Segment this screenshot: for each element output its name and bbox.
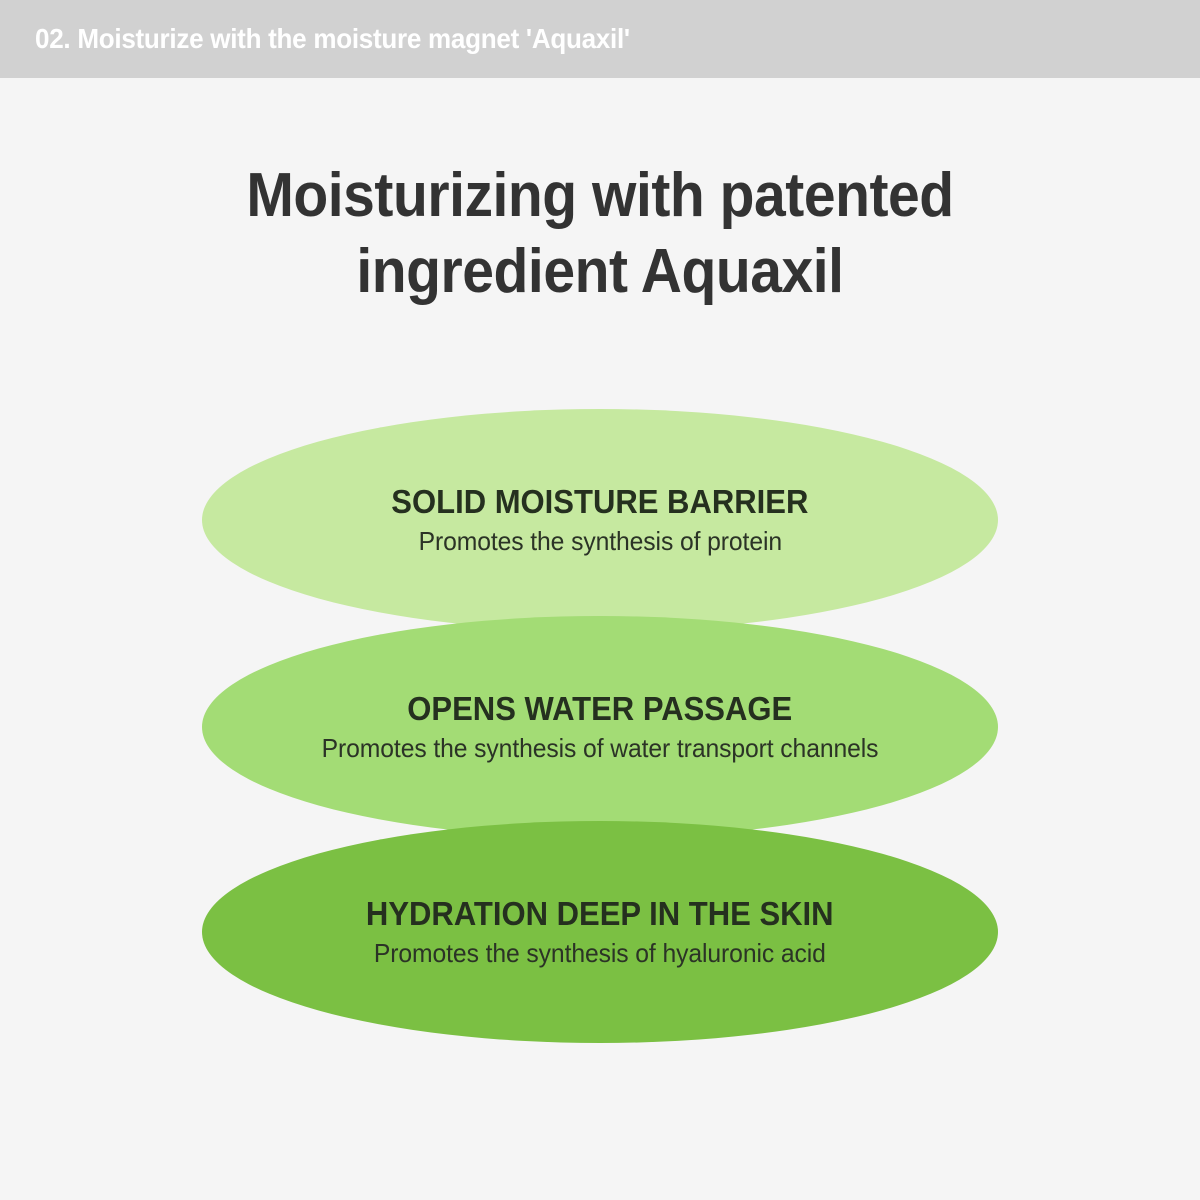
benefit-heading: HYDRATION DEEP IN THE SKIN (366, 894, 834, 934)
benefit-heading: SOLID MOISTURE BARRIER (391, 482, 808, 522)
benefit-heading: OPENS WATER PASSAGE (408, 689, 793, 729)
benefit-ellipse-solid-moisture-barrier: SOLID MOISTURE BARRIER Promotes the synt… (202, 409, 998, 631)
benefit-ellipse-opens-water-passage: OPENS WATER PASSAGE Promotes the synthes… (202, 616, 998, 838)
benefit-subtitle: Promotes the synthesis of protein (418, 524, 781, 558)
benefit-ellipse-stack: SOLID MOISTURE BARRIER Promotes the synt… (0, 0, 1200, 1200)
benefit-subtitle: Promotes the synthesis of water transpor… (322, 731, 879, 765)
benefit-subtitle: Promotes the synthesis of hyaluronic aci… (374, 936, 826, 970)
benefit-ellipse-hydration-deep-in-the-skin: HYDRATION DEEP IN THE SKIN Promotes the … (202, 821, 998, 1043)
